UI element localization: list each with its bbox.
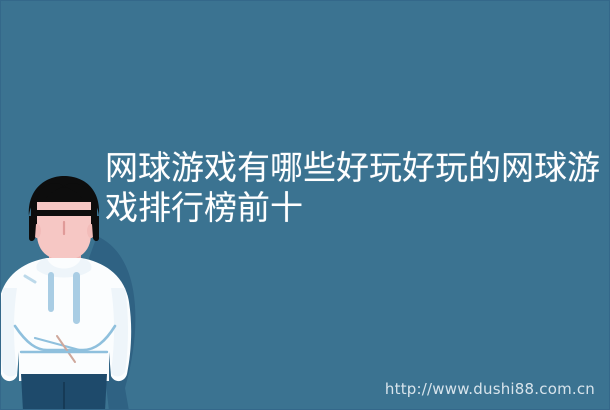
page-title: 网球游戏有哪些好玩好玩的网球游戏排行榜前十	[105, 148, 601, 228]
drawstring-left	[48, 272, 54, 312]
source-watermark: http://www.dushi88.com.cn	[385, 380, 595, 398]
promo-banner: 网球游戏有哪些好玩好玩的网球游戏排行榜前十 http://www.dushi88…	[0, 0, 610, 410]
drawstring-right	[73, 272, 80, 324]
